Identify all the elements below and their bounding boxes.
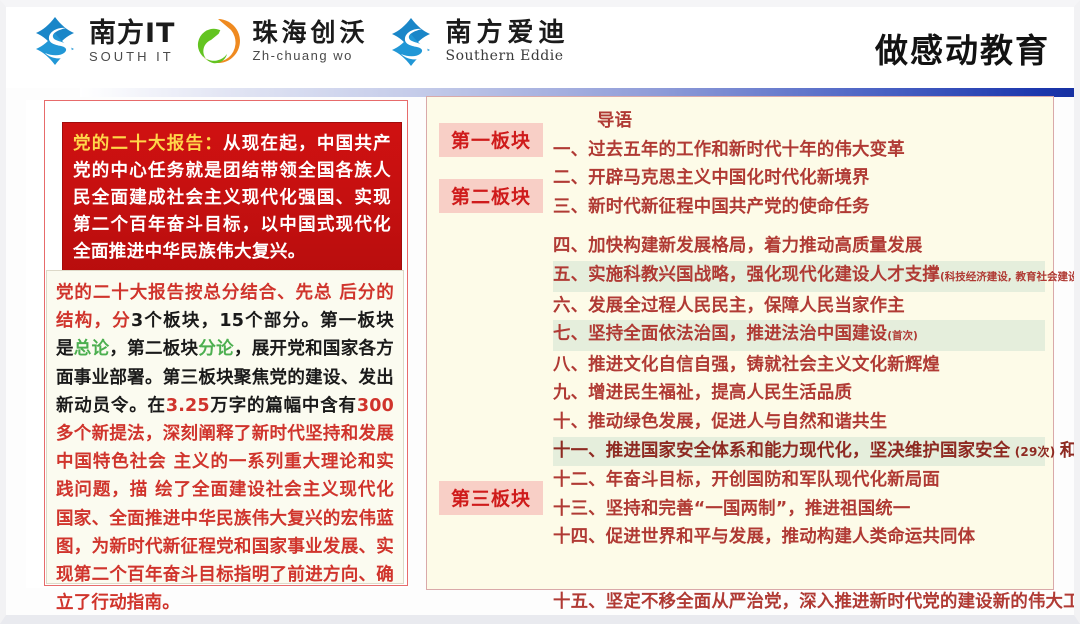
outline-item[interactable]: 七、坚持全面依法治国，推进法治中国建设(首次) bbox=[553, 320, 1045, 351]
logo-southern-eddie: 南方爱迪 Southern Eddie bbox=[384, 14, 569, 68]
outline-item-label: 十三、坚持和完善“一国两制”，推进祖国统一 bbox=[553, 499, 910, 519]
outline-item-label: 十五、坚定不移全面从严治党，深入推进新时代党的建设新的伟大工程 bbox=[553, 592, 1080, 612]
summary-n3: 3 bbox=[131, 311, 143, 331]
outline-list: 导语一、过去五年的工作和新时代十年的伟大变革二、开辟马克思主义中国化时代化新境界… bbox=[553, 107, 1045, 624]
outline-item-label: 十二、年奋斗目标，开创国防和军队现代化新局面 bbox=[553, 470, 940, 490]
outline-item[interactable]: 二、开辟马克思主义中国化时代化新境界 bbox=[553, 164, 1045, 193]
outline-item-label: 三、新时代新征程中国共产党的使命任务 bbox=[553, 197, 870, 217]
south-it-cn: 南方IT bbox=[89, 20, 175, 47]
south-it-text: 南方IT SOUTH IT bbox=[89, 20, 175, 63]
outline-item-label: 六、发展全过程人民民主，保障人民当家作主 bbox=[553, 296, 905, 316]
summary-fenlun: 分论 bbox=[198, 339, 234, 359]
logo-row: 南方IT SOUTH IT 珠海创沃 Zh-chuang wo bbox=[28, 14, 570, 68]
south-it-mark-icon bbox=[28, 14, 82, 68]
slide-page: 南方IT SOUTH IT 珠海创沃 Zh-chuang wo bbox=[0, 0, 1080, 624]
page-title: 做感动教育 bbox=[875, 24, 1050, 72]
outline-item[interactable]: 十、推动绿色发展，促进人与自然和谐共生 bbox=[553, 408, 1045, 437]
outline-item[interactable]: 十五、坚定不移全面从严治党，深入推进新时代党的建设新的伟大工程 bbox=[553, 588, 1045, 617]
outline-item[interactable]: 三、新时代新征程中国共产党的使命任务 bbox=[553, 193, 1045, 222]
summary-n325: 3.25 bbox=[166, 396, 210, 416]
outline-spacer bbox=[553, 221, 1045, 232]
logo-zh-chuang-wo: 珠海创沃 Zh-chuang wo bbox=[191, 14, 368, 68]
block-tag-3: 第三板块 bbox=[439, 481, 543, 515]
outline-item[interactable]: 六、发展全过程人民民主，保障人民当家作主 bbox=[553, 292, 1045, 321]
header-bar: 南方IT SOUTH IT 珠海创沃 Zh-chuang wo bbox=[0, 6, 1080, 88]
report-summary-box: 党的二十大报告按总分结合、先总 后分的结构，分3个板块，15个部分。第一板块是总… bbox=[46, 270, 404, 584]
outline-item-label: 九、增进民生福祉，提高人民生活品质 bbox=[553, 383, 852, 403]
summary-n15: 15 bbox=[219, 311, 244, 331]
outline-item-count: (29次) bbox=[1010, 445, 1059, 459]
outline-spacer bbox=[553, 552, 1045, 570]
outline-item[interactable]: 八、推进文化自信自强，铸就社会主义文化新辉煌 bbox=[553, 351, 1045, 380]
summary-n300: 300 bbox=[357, 396, 394, 416]
outline-item[interactable]: 四、加快构建新发展格局，着力推动高质量发展 bbox=[553, 232, 1045, 261]
outline-item-label: 二、开辟马克思主义中国化时代化新境界 bbox=[553, 168, 870, 188]
outline-item[interactable]: 九、增进民生福祉，提高人民生活品质 bbox=[553, 379, 1045, 408]
summary-p6: 万字的篇幅中含有 bbox=[210, 396, 357, 416]
zh-chuang-wo-mark-icon bbox=[191, 14, 245, 68]
summary-p7: 多个新提法，深刻阐释了新时代坚持和发展中国特色社会 主义的一系列重大理论和实践问… bbox=[56, 424, 394, 613]
outline-item-label-cont: 和社会稳定 bbox=[1060, 441, 1080, 461]
right-panel: 第一板块 第二板块 第三板块 导语一、过去五年的工作和新时代十年的伟大变革二、开… bbox=[426, 96, 1054, 590]
block-tag-1: 第一板块 bbox=[439, 123, 543, 157]
outline-item-note: (首次) bbox=[887, 330, 918, 342]
outline-item[interactable]: 结束语 bbox=[553, 617, 1045, 624]
outline-item-label: 导语 bbox=[597, 111, 632, 131]
outline-item-label: 一、过去五年的工作和新时代十年的伟大变革 bbox=[553, 140, 905, 160]
outline-item[interactable]: 一、过去五年的工作和新时代十年的伟大变革 bbox=[553, 136, 1045, 165]
outline-item[interactable]: 五、实施科教兴国战略，强化现代化建设人才支撑(科技经济建设, 教育社会建设, 人… bbox=[553, 261, 1045, 292]
zh-chuang-wo-text: 珠海创沃 Zh-chuang wo bbox=[252, 20, 368, 62]
outline-item[interactable]: 导语 bbox=[553, 107, 1045, 136]
southern-eddie-mark-icon bbox=[384, 14, 438, 68]
outline-item-label: 十一、推进国家安全体系和能力现代化，坚决维护国家安全 bbox=[553, 441, 1010, 461]
outline-item-label: 十四、促进世界和平与发展，推动构建人类命运共同体 bbox=[553, 527, 975, 547]
outline-item-label: 十、推动绿色发展，促进人与自然和谐共生 bbox=[553, 412, 887, 432]
zh-chuang-wo-cn: 珠海创沃 bbox=[252, 20, 368, 45]
southern-eddie-text: 南方爱迪 Southern Eddie bbox=[445, 20, 569, 63]
zh-chuang-wo-en: Zh-chuang wo bbox=[252, 49, 368, 62]
block-tag-2: 第二板块 bbox=[439, 179, 543, 213]
outline-item[interactable]: 十四、促进世界和平与发展，推动构建人类命运共同体 bbox=[553, 523, 1045, 552]
summary-zonglun: 总论 bbox=[74, 339, 110, 359]
outline-spacer bbox=[553, 570, 1045, 588]
southern-eddie-en: Southern Eddie bbox=[445, 49, 569, 63]
outline-item[interactable]: 十一、推进国家安全体系和能力现代化，坚决维护国家安全 (29次) 和社会稳定 bbox=[553, 437, 1045, 467]
logo-south-it: 南方IT SOUTH IT bbox=[28, 14, 175, 68]
outline-item[interactable]: 十三、坚持和完善“一国两制”，推进祖国统一 bbox=[553, 495, 1045, 524]
summary-p4: ，第二板块 bbox=[109, 339, 198, 359]
outline-item-label: 七、坚持全面依法治国，推进法治中国建设 bbox=[553, 324, 887, 344]
outline-item-note: (科技经济建设, 教育社会建设, 人才党的建设) bbox=[940, 271, 1080, 283]
report-quote-box: 党的二十大报告：从现在起，中国共产党的中心任务就是团结带领全国各族人民全面建成社… bbox=[62, 122, 402, 277]
outline-item-label: 四、加快构建新发展格局，着力推动高质量发展 bbox=[553, 236, 922, 256]
outline-item-label: 结束语 bbox=[601, 621, 654, 624]
outline-item[interactable]: 十二、年奋斗目标，开创国防和军队现代化新局面 bbox=[553, 466, 1045, 495]
outline-item-label: 五、实施科教兴国战略，强化现代化建设人才支撑 bbox=[553, 265, 940, 285]
report-quote-lead: 党的二十大报告： bbox=[73, 134, 223, 154]
southern-eddie-cn: 南方爱迪 bbox=[445, 20, 569, 46]
outline-item-label: 八、推进文化自信自强，铸就社会主义文化新辉煌 bbox=[553, 355, 940, 375]
south-it-en: SOUTH IT bbox=[89, 50, 175, 63]
left-panel: 党的二十大报告：从现在起，中国共产党的中心任务就是团结带领全国各族人民全面建成社… bbox=[26, 100, 408, 588]
summary-p2: 个板块， bbox=[143, 311, 219, 331]
